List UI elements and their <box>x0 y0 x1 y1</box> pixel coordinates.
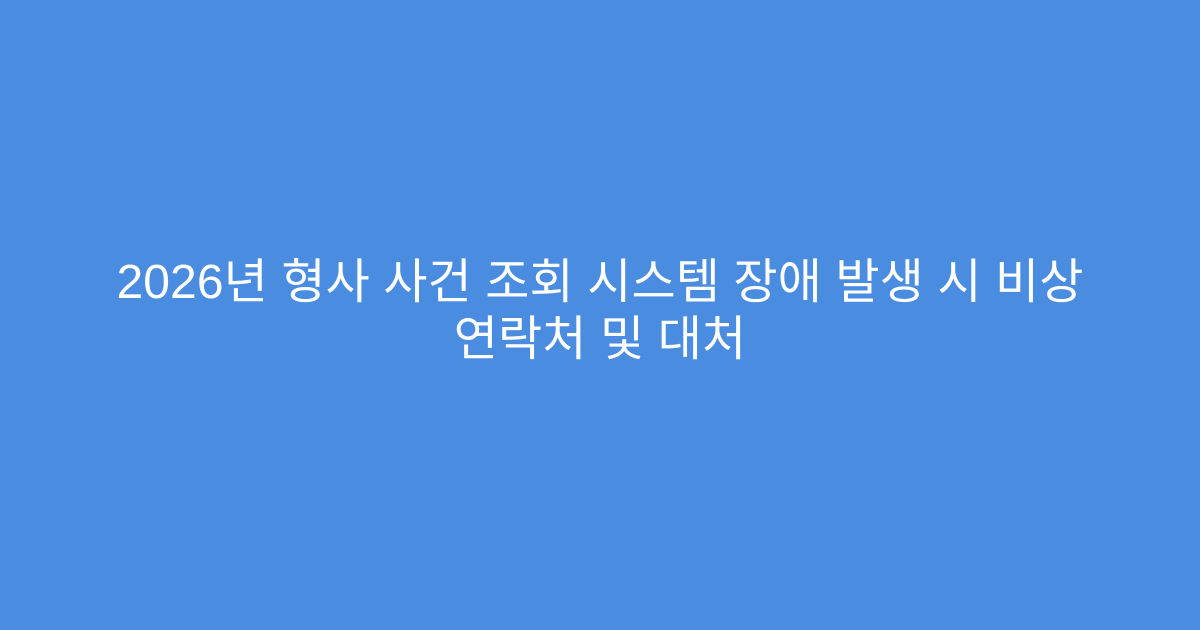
page-title: 2026년 형사 사건 조회 시스템 장애 발생 시 비상 연락처 및 대처 <box>80 254 1120 368</box>
og-share-card: 2026년 형사 사건 조회 시스템 장애 발생 시 비상 연락처 및 대처 <box>0 0 1200 630</box>
headline-block: 2026년 형사 사건 조회 시스템 장애 발생 시 비상 연락처 및 대처 <box>80 254 1120 368</box>
